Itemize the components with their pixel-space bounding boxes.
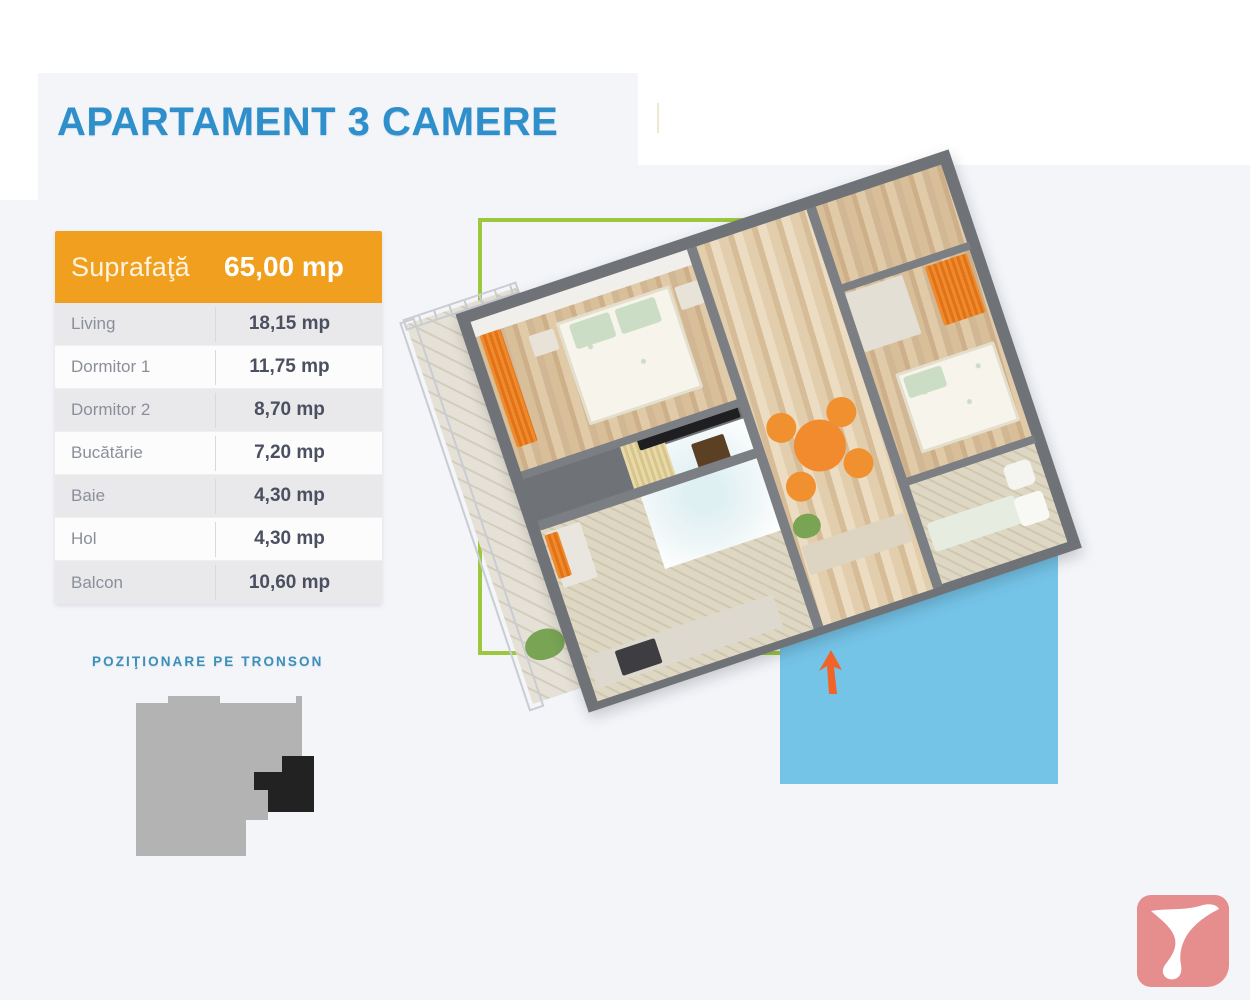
room-area: 4,30 mp [215,485,382,507]
table-row: Hol 4,30 mp [55,518,382,561]
floorplan-illustration [440,180,1100,740]
column-divider [215,522,216,557]
table-row: Bucătărie 7,20 mp [55,432,382,475]
table-row: Dormitor 2 8,70 mp [55,389,382,432]
apartment-spec-table: Suprafaţă 65,00 mp Living 18,15 mp Dormi… [55,231,382,604]
room-label: Living [55,314,215,334]
company-logo [1137,895,1229,987]
table-row: Baie 4,30 mp [55,475,382,518]
column-divider [215,393,216,428]
room-label: Dormitor 1 [55,357,215,377]
dove-icon [1137,895,1229,987]
north-arrow-icon [818,650,844,694]
table-row: Dormitor 1 11,75 mp [55,346,382,389]
tronson-floorplate-diagram [128,690,324,862]
room-area: 18,15 mp [215,313,382,335]
spec-table-header: Suprafaţă 65,00 mp [55,231,382,303]
background-white-left [0,0,38,200]
total-area-label: Suprafaţă [71,252,190,283]
room-area: 4,30 mp [215,528,382,550]
column-divider [215,307,216,342]
room-label: Hol [55,529,215,549]
table-row: Balcon 10,60 mp [55,561,382,604]
tronson-section-label: POZIŢIONARE PE TRONSON [92,654,323,669]
decorative-line [657,103,659,133]
room-label: Baie [55,486,215,506]
column-divider [215,436,216,471]
room-area: 10,60 mp [215,572,382,594]
column-divider [215,350,216,385]
column-divider [215,479,216,514]
table-row: Living 18,15 mp [55,303,382,346]
room-label: Dormitor 2 [55,400,215,420]
room-area: 8,70 mp [215,399,382,421]
column-divider [215,565,216,600]
page-root: APARTAMENT 3 CAMERE Suprafaţă 65,00 mp L… [0,0,1250,1000]
room-area: 11,75 mp [215,356,382,378]
room-label: Bucătărie [55,443,215,463]
room-area: 7,20 mp [215,442,382,464]
page-title: APARTAMENT 3 CAMERE [57,100,558,145]
total-area-value: 65,00 mp [190,251,368,283]
room-label: Balcon [55,573,215,593]
